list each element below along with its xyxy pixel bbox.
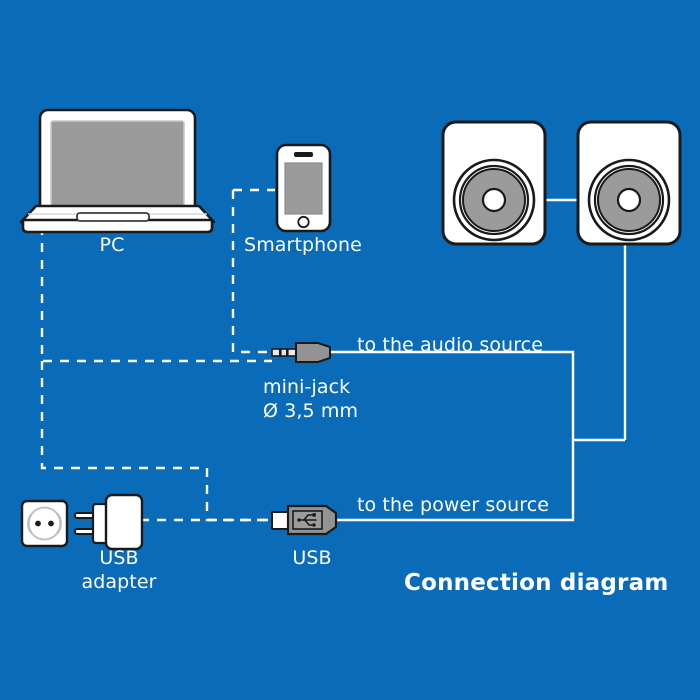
- speaker-left-device[interactable]: [443, 122, 545, 244]
- wall-socket-device: [22, 501, 67, 546]
- laptop-trackpad: [77, 213, 149, 221]
- label-minijack-size: Ø 3,5 mm: [263, 399, 358, 423]
- smartphone-device[interactable]: [277, 145, 330, 231]
- minijack-plug-device[interactable]: [272, 343, 330, 362]
- label-to-audio-source: to the audio source: [357, 333, 543, 357]
- label-usb-adapter-line2: adapter: [81, 570, 156, 594]
- laptop-device[interactable]: [21, 110, 214, 232]
- wall-socket-hole-right: [48, 521, 54, 527]
- label-usb: USB: [292, 546, 331, 570]
- label-minijack-name: mini-jack: [263, 375, 350, 399]
- smartphone-earpiece: [294, 152, 313, 157]
- wall-socket-hole-left: [35, 521, 41, 527]
- label-pc: PC: [100, 233, 125, 257]
- adapter-body: [106, 495, 142, 549]
- minijack-pin: [272, 349, 296, 356]
- page-title: Connection diagram: [404, 570, 668, 596]
- speaker-right-device[interactable]: [578, 122, 680, 244]
- smartphone-screen: [285, 163, 322, 214]
- smartphone-home-button: [298, 217, 308, 227]
- minijack-body: [296, 343, 330, 362]
- minijack-ring-1: [279, 349, 282, 356]
- connection-diagram-canvas: PC Smartphone mini-jack Ø 3,5 mm USB USB…: [0, 0, 700, 700]
- minijack-ring-2: [286, 349, 289, 356]
- label-smartphone: Smartphone: [244, 233, 362, 257]
- laptop-screen: [51, 121, 184, 207]
- wall-socket-recess: [29, 508, 61, 540]
- usb-power-adapter-device[interactable]: [75, 495, 142, 549]
- label-to-power-source: to the power source: [357, 493, 549, 517]
- label-usb-adapter-line1: USB: [99, 546, 138, 570]
- usb-plug-device[interactable]: [272, 506, 336, 534]
- speaker-right-dustcap: [618, 189, 640, 211]
- speaker-left-dustcap: [483, 189, 505, 211]
